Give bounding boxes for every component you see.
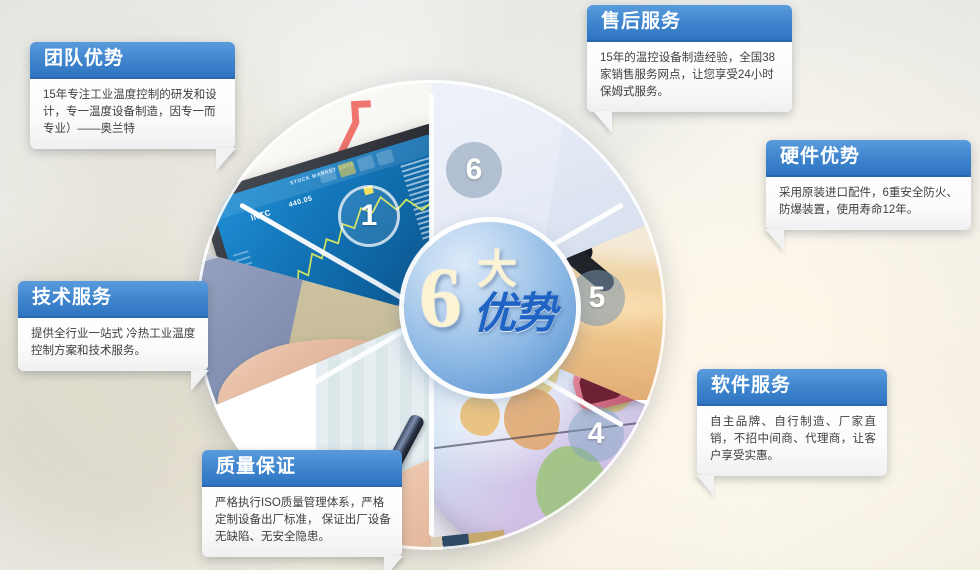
callout-after-sales-service[interactable]: 售后服务 15年的温控设备制造经验，全国38家销售服务网点，让您享受24小时保姆… [587, 5, 792, 112]
segment-number-badge-5[interactable]: 5 [569, 270, 625, 326]
center-word-youshi: 优势 [473, 292, 555, 338]
infographic-root: STOCK MARKET DATA INTC 440.05 [0, 0, 980, 570]
center-char-da: 大 [477, 250, 517, 290]
callout-title: 软件服务 [697, 369, 887, 406]
callout-pointer [765, 229, 784, 251]
callout-title: 硬件优势 [766, 140, 971, 177]
callout-pointer [384, 556, 403, 570]
callout-title: 质量保证 [202, 450, 402, 487]
callout-software-service[interactable]: 软件服务 自主品牌、自行制造、厂家直销，不招中间商、代理商，让客户享受实惠。 [697, 369, 887, 476]
callout-pointer [696, 475, 714, 496]
callout-title: 团队优势 [30, 42, 235, 79]
callout-technology-service[interactable]: 技术服务 提供全行业一站式 冷热工业温度控制方案和技术服务。 [18, 281, 208, 371]
callout-pointer [216, 148, 236, 171]
callout-body: 15年专注工业温度控制的研发和设计，专一温度设备制造，因专一而专业）——奥兰特 [30, 79, 235, 149]
center-number-six: 6 [419, 254, 462, 340]
segment-number-badge-1[interactable]: 1 [338, 185, 400, 247]
center-badge: 6 大 优势 [404, 222, 576, 394]
callout-body: 采用原装进口配件，6重安全防火、防爆装置，使用寿命12年。 [766, 177, 971, 230]
callout-title: 售后服务 [587, 5, 792, 42]
segment-number-badge-4[interactable]: 4 [568, 406, 624, 462]
callout-team-advantage[interactable]: 团队优势 15年专注工业温度控制的研发和设计，专一温度设备制造，因专一而专业）—… [30, 42, 235, 149]
segment-number-badge-6[interactable]: 6 [446, 142, 502, 198]
callout-body: 严格执行ISO质量管理体系，严格定制设备出厂标准， 保证出厂设备无缺陷、无安全隐… [202, 487, 402, 557]
callout-pointer [593, 111, 612, 133]
callout-body: 提供全行业一站式 冷热工业温度控制方案和技术服务。 [18, 318, 208, 371]
callout-pointer [191, 370, 209, 391]
callout-body: 自主品牌、自行制造、厂家直销，不招中间商、代理商，让客户享受实惠。 [697, 406, 887, 476]
globe-landmass [460, 396, 500, 436]
callout-body: 15年的温控设备制造经验，全国38家销售服务网点，让您享受24小时保姆式服务。 [587, 42, 792, 112]
center-badge-content: 6 大 优势 [415, 248, 565, 368]
callout-title: 技术服务 [18, 281, 208, 318]
callout-hardware-advantage[interactable]: 硬件优势 采用原装进口配件，6重安全防火、防爆装置，使用寿命12年。 [766, 140, 971, 230]
callout-quality-assurance[interactable]: 质量保证 严格执行ISO质量管理体系，严格定制设备出厂标准， 保证出厂设备无缺陷… [202, 450, 402, 557]
